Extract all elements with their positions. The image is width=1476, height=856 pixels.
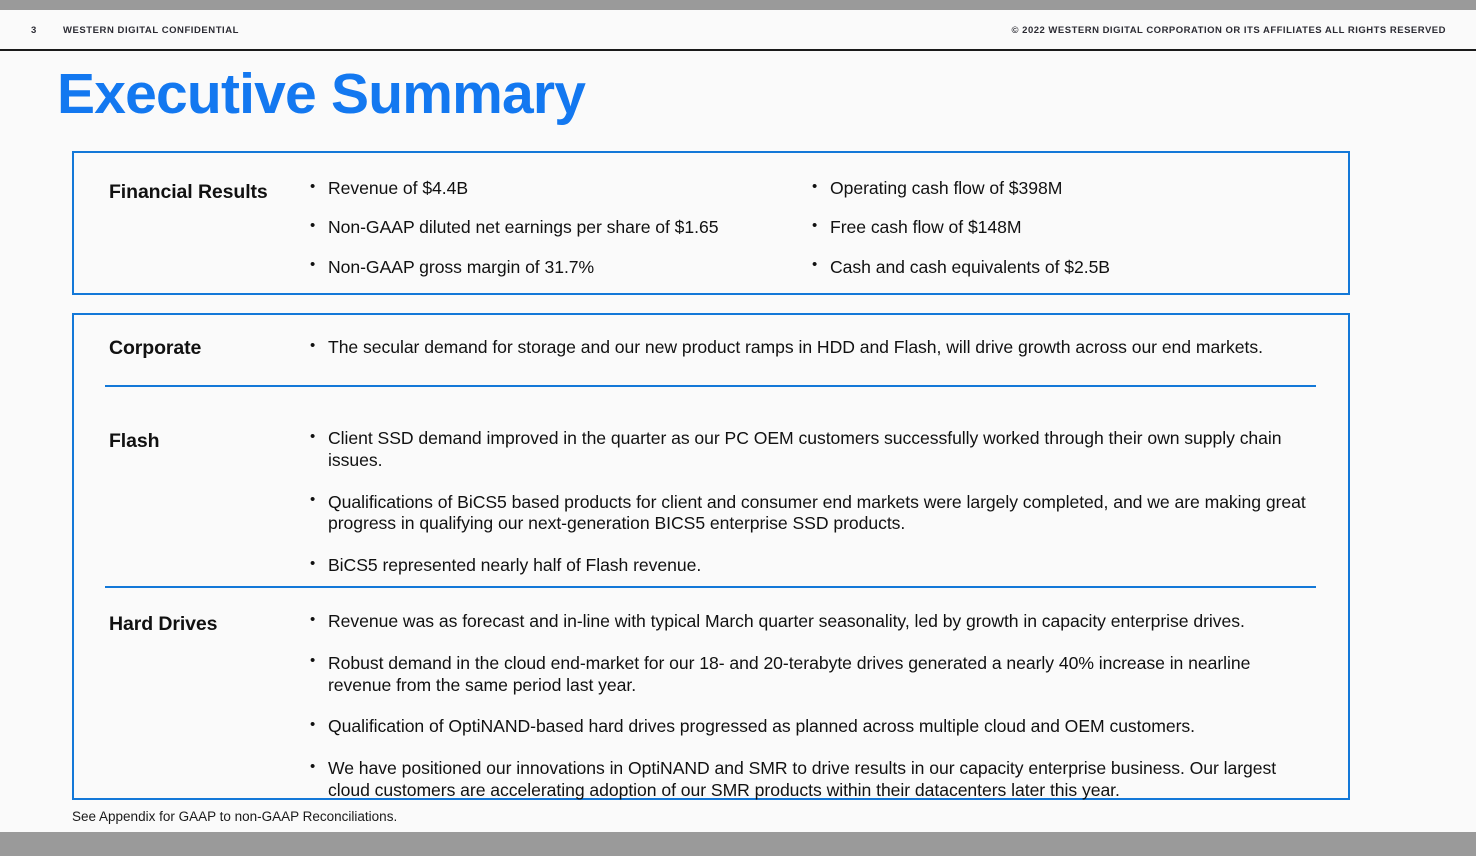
list-item: Qualifications of BiCS5 based products f… (308, 492, 1318, 536)
list-item: Non-GAAP gross margin of 31.7% (308, 257, 808, 279)
slide-page-number: 3 (31, 25, 37, 36)
list-item: Qualification of OptiNAND-based hard dri… (308, 716, 1318, 738)
list-item: BiCS5 represented nearly half of Flash r… (308, 555, 1318, 577)
confidentiality-label: WESTERN DIGITAL CONFIDENTIAL (63, 25, 239, 36)
segment-bullets-hard-drives: Revenue was as forecast and in-line with… (308, 611, 1318, 822)
financial-results-label: Financial Results (109, 181, 268, 204)
list-item: Operating cash flow of $398M (810, 178, 1280, 200)
list-item: Cash and cash equivalents of $2.5B (810, 257, 1280, 279)
list-item: Robust demand in the cloud end-market fo… (308, 653, 1318, 697)
segment-bullets-flash: Client SSD demand improved in the quarte… (308, 428, 1318, 597)
segment-label-corporate: Corporate (109, 337, 201, 360)
list-item: Free cash flow of $148M (810, 217, 1280, 239)
segment-label-hard-drives: Hard Drives (109, 613, 217, 636)
slide-header: 3 WESTERN DIGITAL CONFIDENTIAL © 2022 WE… (0, 10, 1476, 51)
page-title: Executive Summary (57, 66, 585, 123)
list-item: Revenue was as forecast and in-line with… (308, 611, 1318, 633)
financial-results-bullets-right: Operating cash flow of $398M Free cash f… (810, 178, 1280, 296)
list-item: Revenue of $4.4B (308, 178, 808, 200)
presentation-viewer: 3 WESTERN DIGITAL CONFIDENTIAL © 2022 WE… (0, 0, 1476, 856)
list-item: The secular demand for storage and our n… (308, 337, 1328, 359)
list-item: Non-GAAP diluted net earnings per share … (308, 217, 808, 239)
list-item: Client SSD demand improved in the quarte… (308, 428, 1318, 472)
segment-bullets-corporate: The secular demand for storage and our n… (308, 337, 1328, 359)
copyright-label: © 2022 WESTERN DIGITAL CORPORATION OR IT… (1012, 25, 1446, 36)
segment-label-flash: Flash (109, 430, 159, 453)
segment-divider (105, 385, 1316, 387)
segment-divider (105, 586, 1316, 588)
financial-results-bullets-left: Revenue of $4.4B Non-GAAP diluted net ea… (308, 178, 808, 296)
list-item: We have positioned our innovations in Op… (308, 758, 1318, 802)
footnote: See Appendix for GAAP to non-GAAP Reconc… (72, 809, 397, 824)
slide-canvas: 3 WESTERN DIGITAL CONFIDENTIAL © 2022 WE… (0, 10, 1476, 832)
